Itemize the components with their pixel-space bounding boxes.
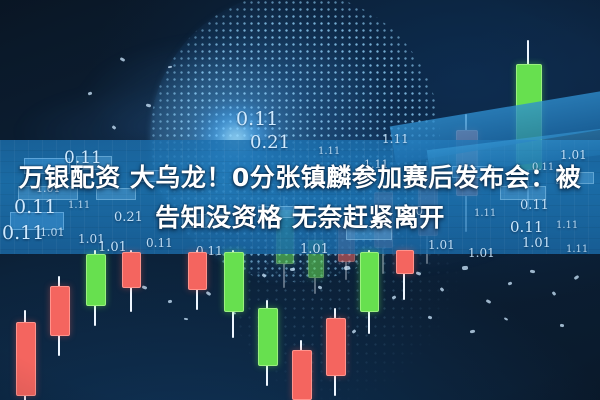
thumbnail-canvas: 0.111.010.110.111.011.111.010.211.010.11… [0,0,600,400]
vignette-overlay [0,0,600,400]
